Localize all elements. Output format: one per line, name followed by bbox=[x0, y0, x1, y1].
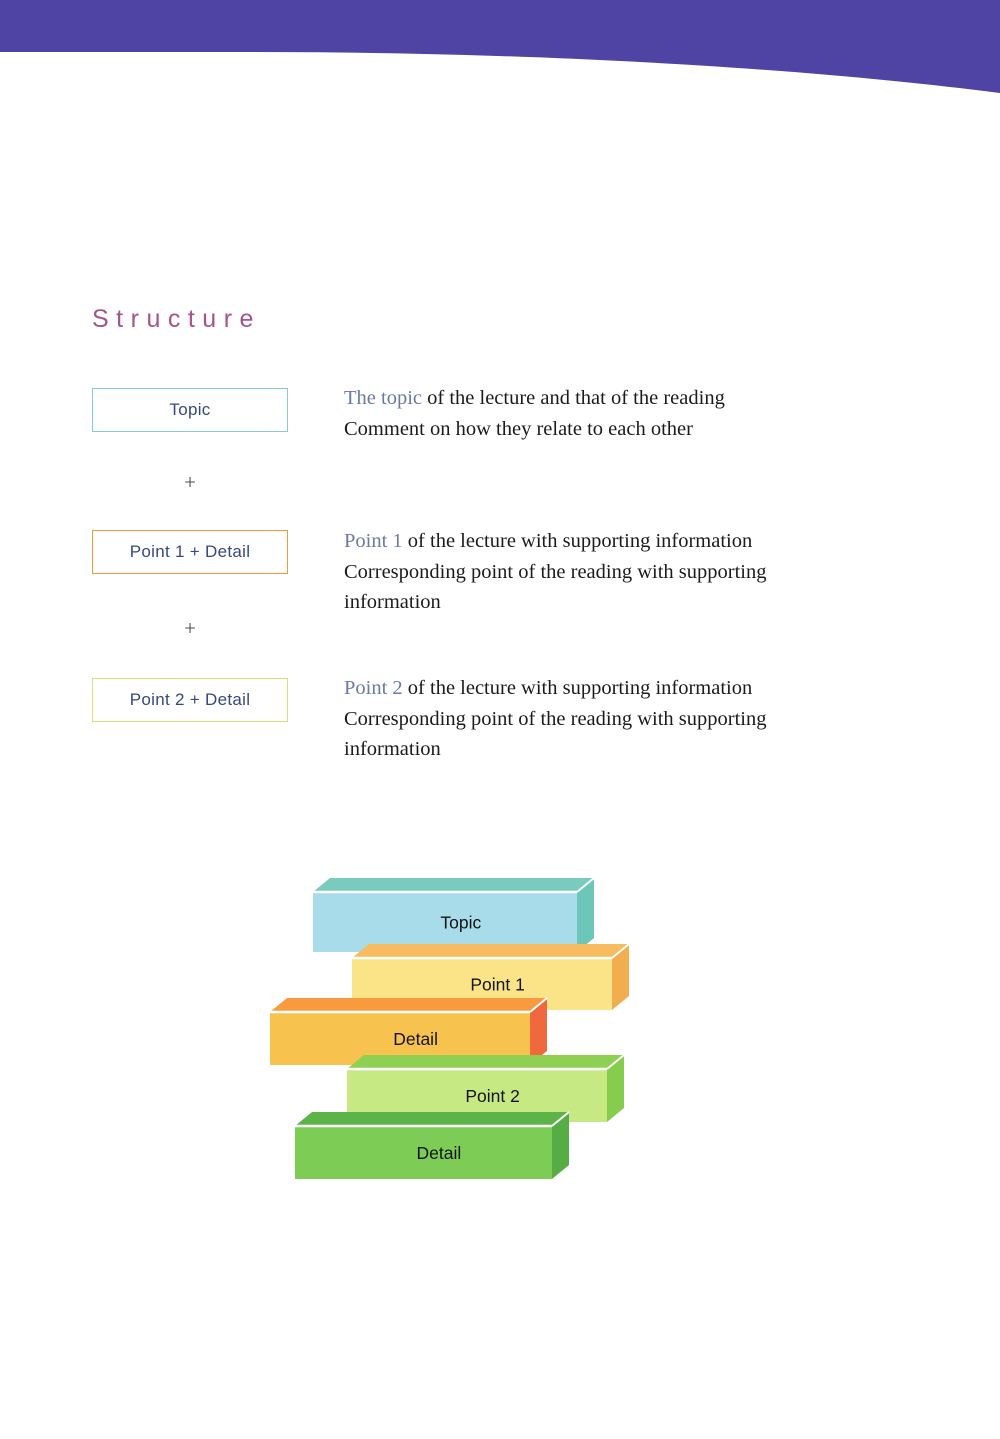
description-point2-rest: of the lecture with supporting informati… bbox=[403, 677, 753, 699]
block-label: Point 2 bbox=[465, 1086, 519, 1106]
block-top-face bbox=[313, 878, 594, 892]
plus-separator-2: + bbox=[92, 618, 288, 639]
block-topic-0: Topic bbox=[313, 878, 594, 952]
description-point2: Point 2 of the lecture with supporting i… bbox=[344, 673, 864, 765]
block-detail-4: Detail bbox=[295, 1112, 569, 1179]
description-topic: The topic of the lecture and that of the… bbox=[344, 383, 864, 444]
block-label: Detail bbox=[393, 1029, 438, 1049]
block-top-face bbox=[295, 1112, 569, 1126]
description-point1-highlight: Point 1 bbox=[344, 530, 403, 552]
outline-box-topic-label: Topic bbox=[169, 400, 210, 420]
block-label: Topic bbox=[440, 913, 481, 933]
description-point1-line2: Corresponding point of the reading with … bbox=[344, 557, 864, 588]
banner-shape bbox=[0, 0, 1000, 93]
description-point2-line2: Corresponding point of the reading with … bbox=[344, 704, 864, 735]
description-point2-line3: information bbox=[344, 734, 864, 765]
description-point1-rest: of the lecture with supporting informati… bbox=[403, 530, 753, 552]
purple-header-band bbox=[0, 0, 1000, 110]
description-point1-line1: Point 1 of the lecture with supporting i… bbox=[344, 526, 864, 557]
block-label: Detail bbox=[417, 1143, 462, 1163]
block-detail-2: Detail bbox=[270, 998, 547, 1065]
description-point2-highlight: Point 2 bbox=[344, 677, 403, 699]
block-top-face bbox=[352, 944, 629, 958]
stacked-blocks-svg: TopicPoint 1DetailPoint 2Detail bbox=[255, 870, 675, 1200]
description-point1: Point 1 of the lecture with supporting i… bbox=[344, 526, 864, 618]
block-point-2-3: Point 2 bbox=[347, 1055, 624, 1122]
outline-box-topic[interactable]: Topic bbox=[92, 388, 288, 432]
outline-box-point1-label: Point 1 + Detail bbox=[130, 542, 251, 562]
stacked-blocks-diagram: TopicPoint 1DetailPoint 2Detail bbox=[255, 870, 675, 1200]
description-topic-line2: Comment on how they relate to each other bbox=[344, 414, 864, 445]
page-title: Structure bbox=[92, 305, 261, 334]
outline-box-point2[interactable]: Point 2 + Detail bbox=[92, 678, 288, 722]
outline-box-point1[interactable]: Point 1 + Detail bbox=[92, 530, 288, 574]
plus-separator-1: + bbox=[92, 472, 288, 493]
block-top-face bbox=[270, 998, 547, 1012]
description-point1-line3: information bbox=[344, 587, 864, 618]
description-topic-line1: The topic of the lecture and that of the… bbox=[344, 383, 864, 414]
block-top-face bbox=[347, 1055, 624, 1069]
description-topic-highlight: The topic bbox=[344, 387, 422, 409]
outline-box-point2-label: Point 2 + Detail bbox=[130, 690, 251, 710]
block-label: Point 1 bbox=[470, 975, 524, 995]
description-point2-line1: Point 2 of the lecture with supporting i… bbox=[344, 673, 864, 704]
description-topic-rest: of the lecture and that of the reading bbox=[422, 387, 725, 409]
